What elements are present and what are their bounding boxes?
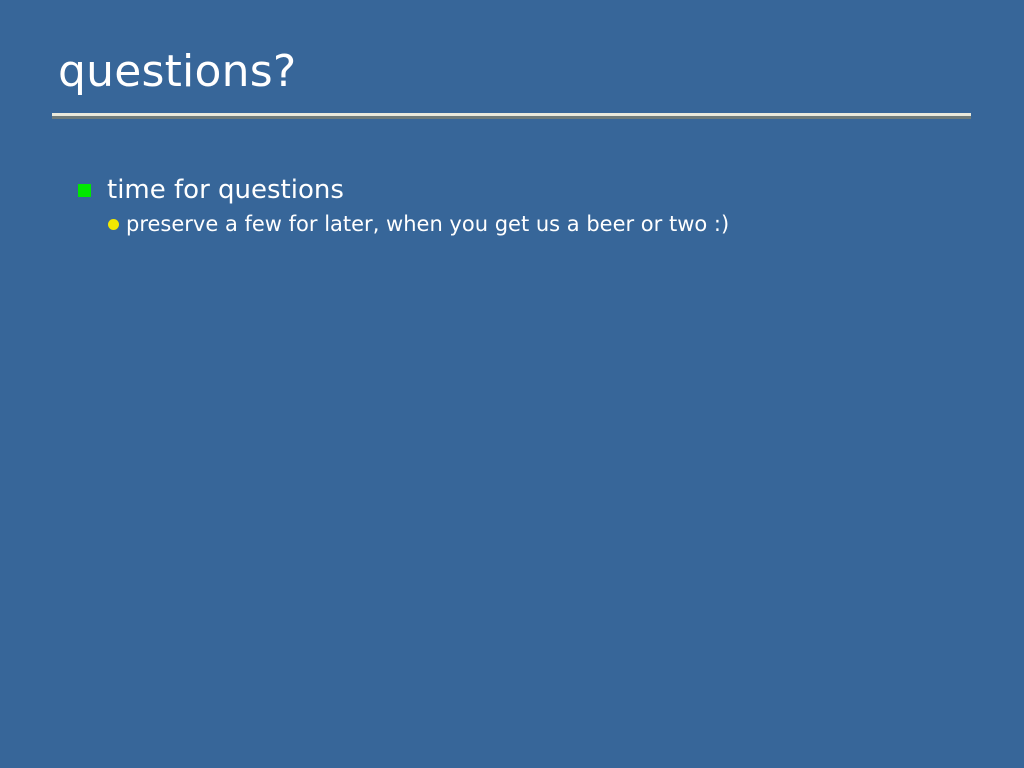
dot-bullet-glyph <box>108 219 119 230</box>
title-rule-shadow <box>52 116 971 119</box>
list-item: preserve a few for later, when you get u… <box>108 210 978 238</box>
square-bullet-glyph <box>78 184 91 197</box>
list-item: time for questions <box>78 174 978 206</box>
presentation-slide: questions? time for questions preserve a… <box>0 0 1024 768</box>
square-bullet-icon <box>78 174 107 206</box>
title-block: questions? <box>52 44 972 100</box>
bullet-level1-label: time for questions <box>107 174 344 206</box>
slide-body: time for questions preserve a few for la… <box>78 174 978 238</box>
title-underline-rule <box>52 113 971 119</box>
dot-bullet-icon <box>108 210 126 238</box>
page-title: questions? <box>52 44 972 100</box>
bullet-level2-label: preserve a few for later, when you get u… <box>126 210 729 238</box>
